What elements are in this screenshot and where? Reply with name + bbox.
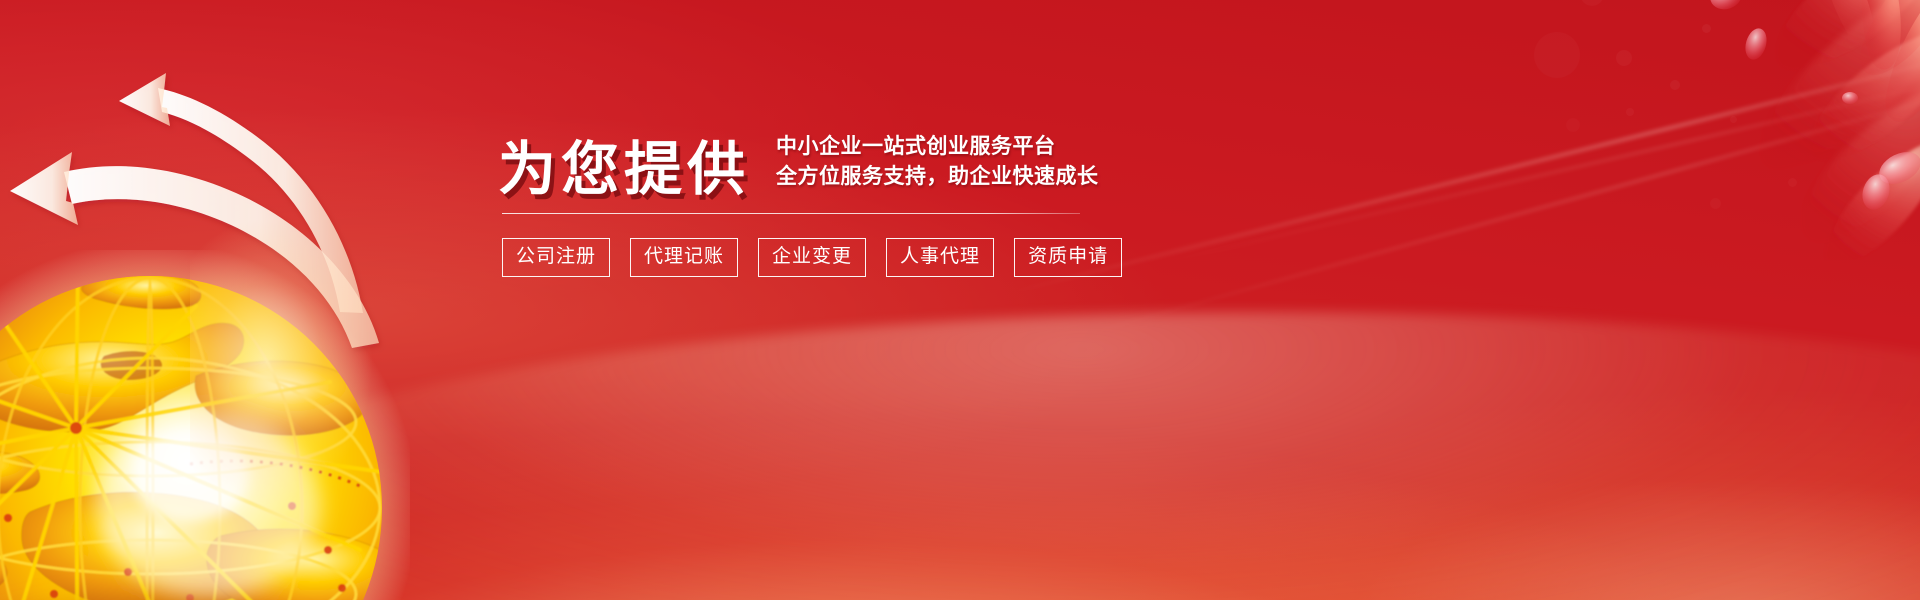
bokeh-dots [1670,80,1680,90]
flower-graphic [1520,0,1920,260]
bokeh-dots [1788,178,1797,187]
bokeh-dots [1616,50,1632,66]
globe-graphic [0,250,410,600]
bokeh-dots [1626,108,1634,116]
service-tag-company-registration[interactable]: 公司注册 [502,238,610,277]
subtitle-line-1: 中小企业一站式创业服务平台 [776,132,1099,162]
page-title: 为您提供 [498,141,750,199]
bokeh-dots [1702,24,1711,33]
headline-row: 为您提供 中小企业一站式创业服务平台 全方位服务支持，助企业快速成长 [498,132,1098,199]
service-tag-bookkeeping[interactable]: 代理记账 [630,238,738,277]
service-tag-list: 公司注册 代理记账 企业变更 人事代理 资质申请 [502,238,1098,277]
subtitle-block: 中小企业一站式创业服务平台 全方位服务支持，助企业快速成长 [776,132,1099,199]
service-tag-enterprise-change[interactable]: 企业变更 [758,238,866,277]
bokeh-dots [1730,116,1737,123]
subtitle-line-2: 全方位服务支持，助企业快速成长 [776,162,1099,192]
bokeh-dots [1534,32,1580,78]
bokeh-dots [1566,118,1580,132]
banner-content: 为您提供 中小企业一站式创业服务平台 全方位服务支持，助企业快速成长 公司注册 … [498,132,1098,277]
service-tag-hr-agency[interactable]: 人事代理 [886,238,994,277]
promo-banner: 为您提供 中小企业一站式创业服务平台 全方位服务支持，助企业快速成长 公司注册 … [0,0,1920,600]
service-tag-qualification-application[interactable]: 资质申请 [1014,238,1122,277]
divider [502,213,1080,214]
bokeh-dots [1710,198,1721,209]
